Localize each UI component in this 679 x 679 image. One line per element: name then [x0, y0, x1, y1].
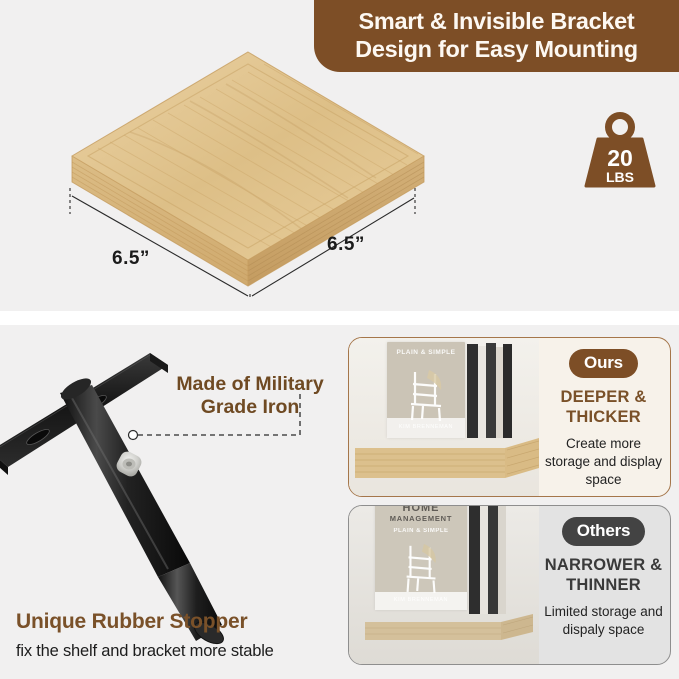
shelf-illustration [58, 48, 428, 288]
ours-info: Ours DEEPER & THICKER Create more storag… [537, 338, 670, 496]
top-section: 6.5” 6.5” Smart & Invisible Bracket Desi… [0, 0, 679, 311]
others-photo: HOME MANAGEMENT PLAIN & SIMPLE [349, 506, 539, 664]
header-banner: Smart & Invisible Bracket Design for Eas… [314, 0, 679, 72]
book-title-others: PLAIN & SIMPLE [375, 528, 467, 535]
bottom-section: Made of Military Grade Iron Unique Rubbe… [0, 325, 679, 679]
book-spine [467, 344, 478, 438]
others-badge: Others [562, 517, 646, 546]
military-title-line1: Made of Military [176, 373, 323, 395]
military-grade-title: Made of Military Grade Iron [160, 373, 340, 420]
book-spine [480, 506, 488, 614]
comparison-card-ours: PLAIN & SIMPLE KIM BRENNEMAN [348, 337, 671, 497]
shelf-thick [355, 438, 539, 478]
chair-graphic [401, 364, 453, 422]
ours-photo: PLAIN & SIMPLE KIM BRENNEMAN [349, 338, 539, 496]
ours-heading: DEEPER & THICKER [537, 387, 670, 427]
chair-graphic [397, 538, 447, 594]
shelf-thin [365, 614, 533, 640]
book-title-others-sub: MANAGEMENT [375, 515, 467, 524]
rubber-stopper-subtitle: fix the shelf and bracket more stable [16, 642, 274, 661]
weight-capacity-badge: 20 LBS [578, 110, 662, 192]
military-title-line2: Grade Iron [201, 396, 300, 418]
rubber-stopper-title: Unique Rubber Stopper [16, 610, 247, 634]
ours-description: Create more storage and display space [537, 435, 670, 489]
book-spine [478, 346, 486, 438]
comparison-card-others: HOME MANAGEMENT PLAIN & SIMPLE [348, 505, 671, 665]
book-cover-ours: PLAIN & SIMPLE KIM BRENNEMAN [387, 342, 465, 438]
book-cover-others: HOME MANAGEMENT PLAIN & SIMPLE [375, 506, 467, 610]
book-spine [496, 347, 503, 438]
others-info: Others NARROWER & THINNER Limited storag… [537, 506, 670, 664]
leader-dot [129, 431, 138, 440]
book-spine [503, 344, 512, 438]
weight-value: 20 [607, 145, 633, 171]
others-description: Limited storage and dispaly space [537, 603, 670, 639]
book-spine [488, 506, 498, 614]
book-title-ours: PLAIN & SIMPLE [387, 349, 465, 356]
ours-badge: Ours [569, 349, 638, 378]
book-spine [498, 506, 506, 614]
section-divider [0, 311, 679, 325]
book-spine [469, 506, 480, 614]
header-title: Smart & Invisible Bracket Design for Eas… [355, 8, 638, 63]
header-title-line2: Design for Easy Mounting [355, 36, 638, 62]
header-title-line1: Smart & Invisible Bracket [359, 8, 635, 34]
bracket-illustration-area: Made of Military Grade Iron Unique Rubbe… [0, 325, 340, 679]
others-heading: NARROWER & THINNER [537, 555, 670, 595]
weight-unit: LBS [606, 169, 634, 185]
product-infographic: 6.5” 6.5” Smart & Invisible Bracket Desi… [0, 0, 679, 679]
book-spine [486, 343, 496, 438]
